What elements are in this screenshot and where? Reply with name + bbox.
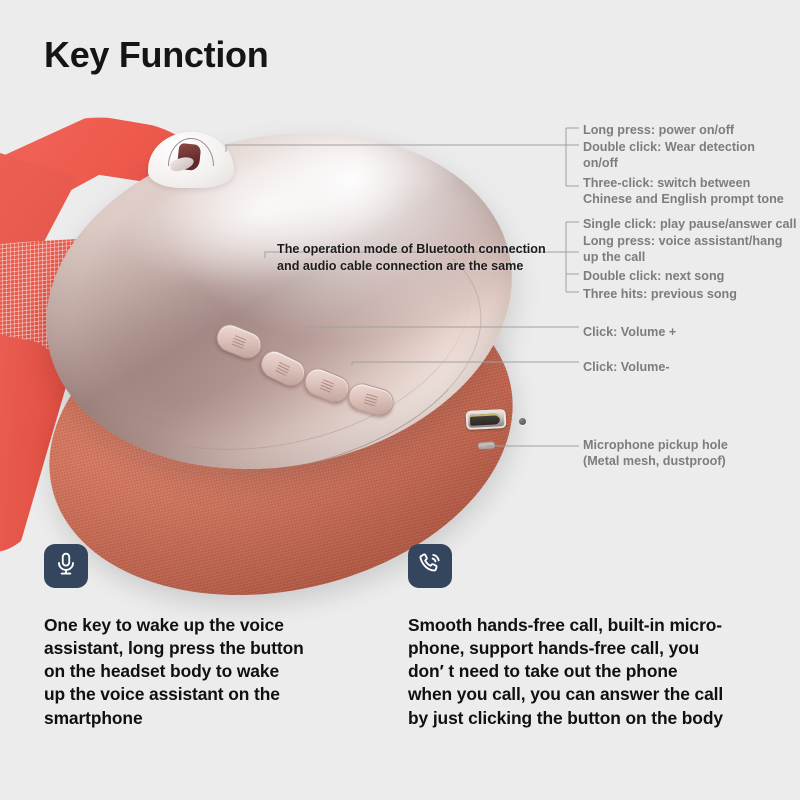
callout-three-click: Three-click: switch between Chinese and …: [583, 175, 784, 207]
callout-power: Long press: power on/off: [583, 122, 734, 138]
phone-call-icon: [417, 551, 443, 582]
feature-voice-text: One key to wake up the voice assistant, …: [44, 614, 384, 730]
feature-hands-free-call: Smooth hands-free call, built-in micro- …: [408, 544, 778, 730]
hands-free-call-badge: [408, 544, 452, 588]
callout-volume-up: Click: Volume +: [583, 324, 676, 340]
callout-microphone: Microphone pickup hole (Metal mesh, dust…: [583, 437, 728, 469]
callout-volume-down: Click: Volume-: [583, 359, 670, 375]
voice-assistant-badge: [44, 544, 88, 588]
microphone-icon: [53, 551, 79, 582]
callout-three-hits: Three hits: previous song: [583, 286, 737, 302]
callout-wear-detection: Double click: Wear detection on/off: [583, 139, 755, 171]
callout-long-press: Long press: voice assistant/hang up the …: [583, 233, 782, 265]
callout-double-click: Double click: next song: [583, 268, 724, 284]
feature-voice-assistant: One key to wake up the voice assistant, …: [44, 544, 384, 730]
callout-bluetooth-note: The operation mode of Bluetooth connecti…: [277, 241, 546, 274]
callout-single-click: Single click: play pause/answer call: [583, 216, 797, 232]
feature-call-text: Smooth hands-free call, built-in micro- …: [408, 614, 778, 730]
